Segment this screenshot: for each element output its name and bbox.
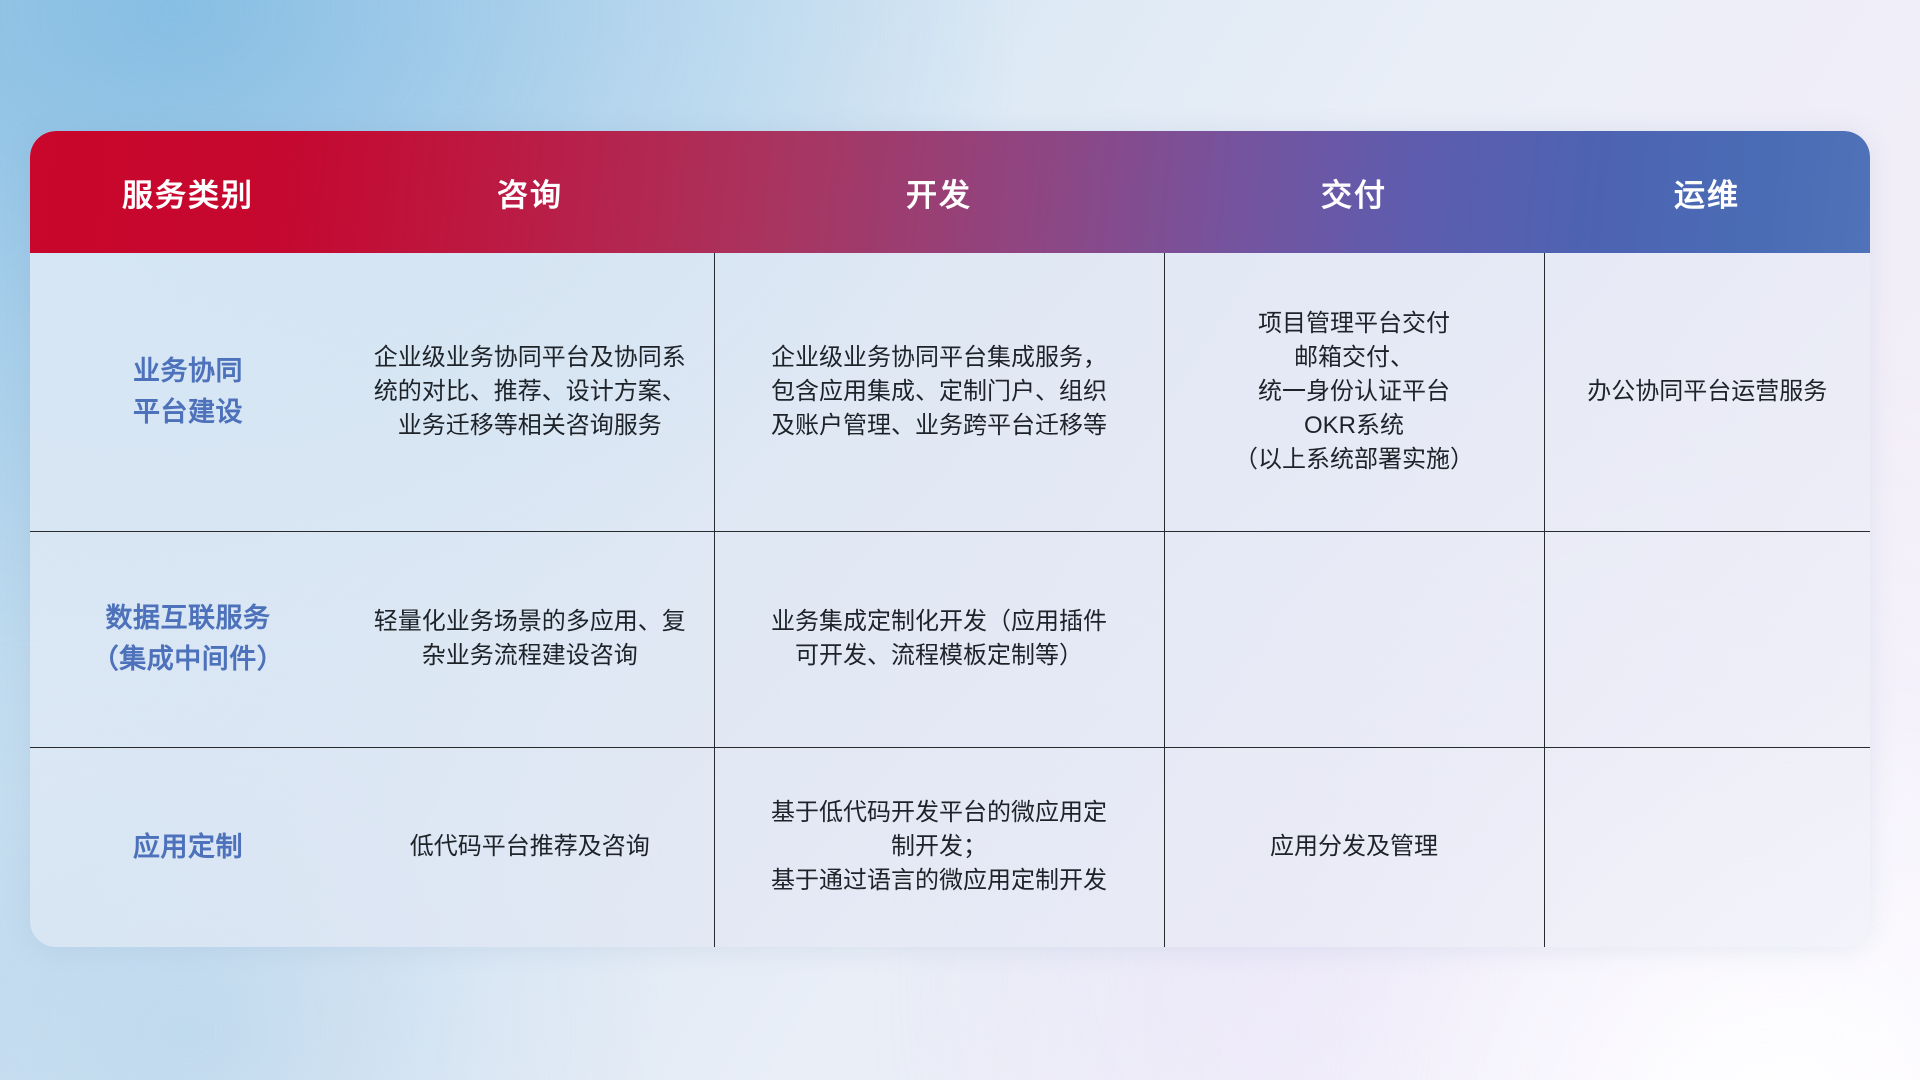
table-body: 业务协同 平台建设 企业级业务协同平台及协同系 统的对比、推荐、设计方案、 业务… <box>30 253 1870 947</box>
cell-category-2: 数据互联服务 （集成中间件） <box>30 531 346 747</box>
table-header-row: 服务类别 咨询 开发 交付 运维 <box>30 131 1870 253</box>
cell-consulting-1: 企业级业务协同平台及协同系 统的对比、推荐、设计方案、 业务迁移等相关咨询服务 <box>346 253 714 531</box>
table-row: 应用定制 低代码平台推荐及咨询 基于低代码开发平台的微应用定 制开发； 基于通过… <box>30 747 1870 947</box>
column-header-development[interactable]: 开发 <box>714 131 1164 253</box>
cell-consulting-2: 轻量化业务场景的多应用、复 杂业务流程建设咨询 <box>346 531 714 747</box>
service-matrix-table-card: 服务类别 咨询 开发 交付 运维 业务协同 平台建设 企业级业务协同平台及协同系… <box>30 131 1870 947</box>
cell-category-1: 业务协同 平台建设 <box>30 253 346 531</box>
service-matrix-table: 服务类别 咨询 开发 交付 运维 业务协同 平台建设 企业级业务协同平台及协同系… <box>30 131 1870 947</box>
column-header-category[interactable]: 服务类别 <box>30 131 346 253</box>
cell-category-3: 应用定制 <box>30 747 346 947</box>
table-header: 服务类别 咨询 开发 交付 运维 <box>30 131 1870 253</box>
column-header-consulting[interactable]: 咨询 <box>346 131 714 253</box>
column-header-operations[interactable]: 运维 <box>1544 131 1870 253</box>
cell-delivery-1: 项目管理平台交付 邮箱交付、 统一身份认证平台 OKR系统 （以上系统部署实施） <box>1164 253 1544 531</box>
cell-operations-1: 办公协同平台运营服务 <box>1544 253 1870 531</box>
cell-delivery-2 <box>1164 531 1544 747</box>
cell-development-1: 企业级业务协同平台集成服务， 包含应用集成、定制门户、组织 及账户管理、业务跨平… <box>714 253 1164 531</box>
cell-development-2: 业务集成定制化开发（应用插件 可开发、流程模板定制等） <box>714 531 1164 747</box>
table-row: 业务协同 平台建设 企业级业务协同平台及协同系 统的对比、推荐、设计方案、 业务… <box>30 253 1870 531</box>
cell-delivery-3: 应用分发及管理 <box>1164 747 1544 947</box>
cell-operations-3 <box>1544 747 1870 947</box>
column-header-delivery[interactable]: 交付 <box>1164 131 1544 253</box>
cell-development-3: 基于低代码开发平台的微应用定 制开发； 基于通过语言的微应用定制开发 <box>714 747 1164 947</box>
table-row: 数据互联服务 （集成中间件） 轻量化业务场景的多应用、复 杂业务流程建设咨询 业… <box>30 531 1870 747</box>
cell-consulting-3: 低代码平台推荐及咨询 <box>346 747 714 947</box>
cell-operations-2 <box>1544 531 1870 747</box>
